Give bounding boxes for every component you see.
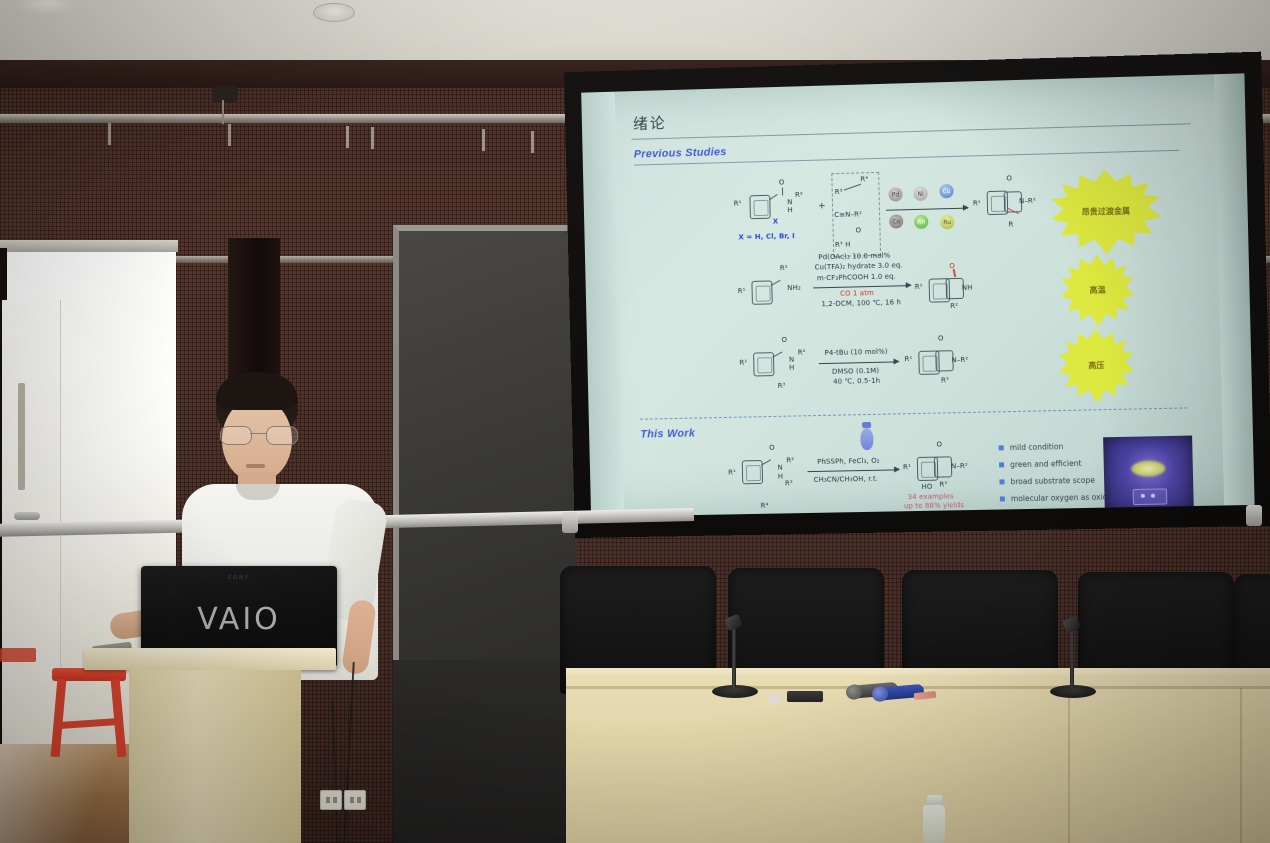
sony-brand-label: SONY [209,575,269,581]
catalyst-ni: Ni [913,187,927,201]
tw-label-r4: R⁴ [761,502,769,510]
s3-ring-glyph [753,352,774,376]
tw-label-o: O [769,444,775,452]
projected-slide: 绪论 Previous Studies R¹ O N R² H X X = H,… [581,73,1254,517]
tw-reaction-arrow [807,469,899,472]
s2-reaction-arrow [813,285,911,288]
callout-text: 昂贵过渡金属 [1082,207,1131,217]
mouth [246,464,265,468]
s3-product-r3: R³ [941,376,949,384]
stool-crossbar [56,718,122,730]
reagent-label: R³ [835,188,843,196]
section-label-previous-studies: Previous Studies [634,146,727,160]
s2-condition-highlight: CO 1 atm [840,289,874,298]
wall-outlet[interactable] [320,790,342,810]
tw-label-r2: R² [786,456,794,464]
s2-product-r2: R² [950,302,958,310]
s3-label-r3: R³ [778,382,786,390]
white-clicker[interactable] [768,694,781,704]
slide-content: 绪论 Previous Studies R¹ O N R² H X X = H,… [615,74,1225,516]
label-o: O [779,178,785,186]
bullet-broad-scope: broad substrate scope [999,475,1119,486]
ceiling-speaker-icon [313,3,355,22]
s3-label-o: O [781,336,787,344]
product-label-o: O [1006,174,1012,182]
feature-bullet-list: mild condition green and efficient broad… [999,441,1121,512]
mic-stem [732,627,736,689]
tw-conditions-bottom: CH₃CN/CH₃OH, r.t. [814,475,879,484]
reactor-indicator [1151,494,1155,498]
s2-product-nh: NH [962,284,973,292]
label-n: N [787,198,792,206]
tw-product-ho: HO [921,483,932,491]
reagent-label: R³ H [835,241,851,249]
tw-product-ring-fused [934,456,953,477]
s2-label-r1: R¹ [738,287,746,295]
s3-label-r1: R¹ [739,359,747,367]
label-x: X [773,217,779,225]
eyeglasses [220,426,296,443]
product-label-r1: R¹ [973,199,981,207]
benzene-ring-glyph [749,195,770,219]
s2-condition: Pd(OAc)₂ 10.0 mol% [818,252,890,262]
s3-label-r2: R² [798,348,806,356]
catalyst-rh: Rh [914,215,928,229]
bond [769,194,778,200]
podium-body [129,670,301,843]
section-divider [640,407,1187,419]
glasses-bridge [250,433,266,434]
label-r1: R¹ [734,200,742,208]
bullet-green-efficient: green and efficient [999,458,1119,469]
reagent-label: O [855,226,861,234]
plus-sign: + [818,201,826,211]
rail-hook [346,126,349,148]
catalyst-pd: Pd [888,187,902,201]
tw-product-r3: R³ [939,480,947,488]
floor-light-reflection [0,744,130,843]
label-r2: R² [795,191,803,199]
tw-product-o: O [936,441,942,449]
bond [771,280,781,286]
red-stool-far [0,648,36,662]
title-underline [631,123,1190,140]
s3-label-n: N [789,356,794,364]
reagent-label: C≡N–R² [834,210,862,219]
bullet-molecular-oxygen: molecular oxygen as oxidant [1000,492,1120,503]
s2-condition: 1,2-DCM, 100 ℃, 16 h [821,298,901,308]
mic-stem [1070,629,1074,687]
carbonyl-bond [953,269,957,277]
rail-hook [371,127,374,149]
tw-conditions-top: PhSSPh, FeCl₃, O₂ [817,457,880,466]
tw-label-r3: R³ [785,479,793,487]
photoreactor-photo [1103,436,1194,514]
callout-high-temperature: 高温 [1060,254,1134,328]
label-h: H [787,206,793,214]
reactor-device [1133,488,1168,505]
lens-right [266,426,298,445]
reaction-arrow [886,208,968,211]
door-vision-panel [18,383,25,490]
hair-fringe [216,374,298,410]
conference-table [566,675,1270,843]
bond [772,351,782,357]
lens-left [220,426,252,445]
projection-screen: 绪论 Previous Studies R¹ O N R² H X X = H,… [564,52,1270,538]
tw-product-r1: R¹ [903,463,911,471]
bond [782,187,783,195]
table-seam [1240,688,1242,843]
screen-endcap-right [1246,505,1262,526]
slide-title: 绪论 [633,112,667,134]
product-label-r: R [1008,220,1013,228]
detector-wire [222,100,224,124]
s3-product-n: N–R² [951,356,968,364]
light-bulb-icon [860,428,873,450]
catalyst-cu: Cu [939,184,953,198]
tw-ring-glyph [742,460,763,484]
s3-label-h: H [789,364,795,372]
product-label-n: N–R² [1019,197,1036,205]
podium-top-surface [84,648,336,670]
tw-label-h: H [778,473,784,481]
rail-hook [531,131,534,153]
tw-label-r1: R¹ [728,469,736,477]
catalyst-ru: Ru [940,215,954,229]
tw-product-n: N–R² [951,462,968,470]
s3-reaction-arrow [819,361,899,364]
s2-label-nh2: NH₂ [787,284,801,292]
substrate-note: X = H, Cl, Br, I [738,232,794,241]
section-label-this-work: This Work [640,428,695,441]
rail-hook [108,123,111,145]
result-examples: 34 examples [908,492,954,501]
mic-grille [845,684,862,700]
catalyst-co: Co [889,214,903,228]
callout-high-pressure: 高压 [1058,328,1134,404]
s3-product-o: O [938,334,944,342]
red-plastic-stool [52,668,126,758]
tw-label-n: N [777,464,782,472]
door-header [0,240,178,252]
remote-control[interactable] [787,691,823,702]
bullet-mild-condition: mild condition [999,441,1119,452]
s2-label-r2: R² [780,264,788,272]
result-yields: up to 88% yields [904,501,964,510]
s2-condition: Cu(TFA)₂ hydrate 3.0 eq. [815,261,903,271]
reagent-label: R⁴ [860,175,868,183]
bond [761,459,771,465]
water-bottle[interactable] [921,795,947,843]
s3-condition: 40 ℃, 0.5-1h [833,377,880,386]
rail-hook [228,124,231,146]
rail-hook [482,129,485,151]
s2-condition: m-CF₃PhCOOH 1.0 eq. [817,272,896,282]
s2-product-r1: R¹ [915,283,923,291]
table-seam [1068,688,1070,843]
s3-condition: P4-tBu (10 mol%) [824,348,887,357]
door-handle[interactable] [14,512,40,520]
lecture-hall-photo: 绪论 Previous Studies R¹ O N R² H X X = H,… [0,0,1270,843]
s3-condition: DMSO (0.1M) [832,367,879,376]
s3-product-r1: R¹ [904,355,912,363]
stool-leg [51,679,67,757]
bottle-body [923,805,945,843]
callout-text: 高温 [1089,286,1105,295]
reactor-glow [1131,460,1166,477]
mic-grille [871,686,888,702]
callout-expensive-metals: 昂贵过渡金属 [1050,168,1161,255]
wall-outlet[interactable] [344,790,366,810]
vaio-logo: VAIO [141,602,337,637]
reactor-indicator [1141,494,1145,498]
smoke-detector-icon [212,86,238,102]
screen-endcap-left [562,512,578,533]
callout-text: 高压 [1088,362,1104,371]
s2-ring-glyph [751,280,772,304]
